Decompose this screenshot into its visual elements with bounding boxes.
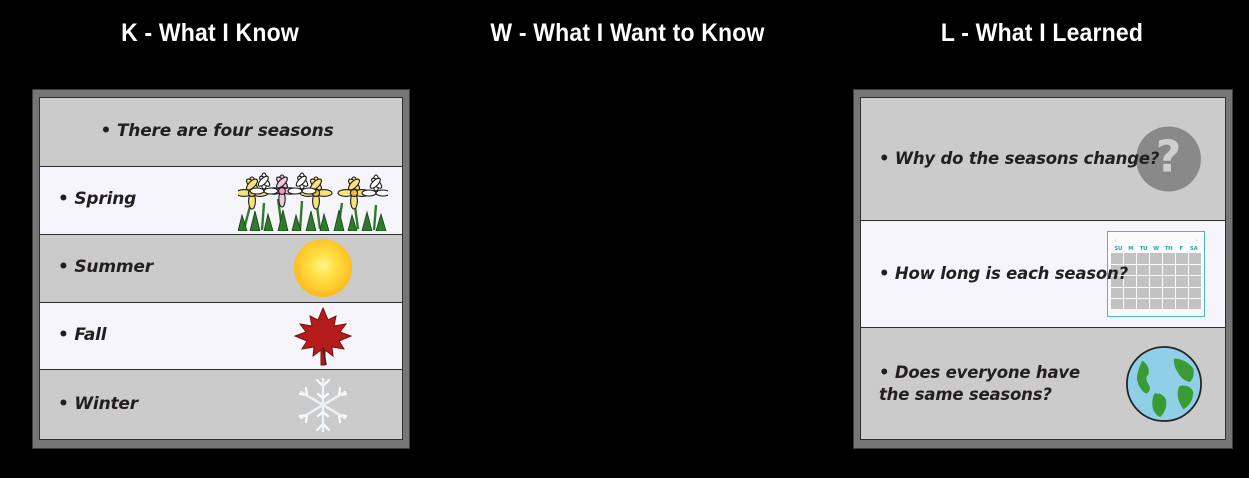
calendar-cell: [1189, 276, 1201, 286]
calendar-day-label: SU: [1112, 247, 1125, 252]
row-text: • Fall: [40, 325, 114, 347]
calendar-day-label: TU: [1137, 247, 1150, 252]
column-want: W - What I Want to Know • Why do the sea…: [420, 0, 835, 478]
calendar-cell: [1150, 288, 1162, 298]
calendar-day-label: TH: [1162, 247, 1175, 252]
snowflake-icon: [292, 374, 354, 436]
calendar-cell: [1189, 288, 1201, 298]
table-row[interactable]: • Winter: [40, 370, 402, 439]
row-text: • Does everyone have the same seasons?: [861, 362, 1107, 404]
sun-icon: [294, 239, 352, 297]
flowers-icon: [238, 169, 388, 231]
column-title-know: K - What I Know: [17, 19, 403, 48]
row-text: • Spring: [40, 189, 144, 211]
calendar-day-label: SA: [1187, 247, 1200, 252]
calendar-cell: [1176, 276, 1188, 286]
calendar-cell: [1189, 253, 1201, 263]
calendar-next-arrow[interactable]: ›: [1195, 237, 1198, 245]
table-row[interactable]: • Summer: [40, 235, 402, 303]
row-text: • Why do the seasons change?: [861, 148, 1167, 169]
calendar-cell: [1163, 299, 1175, 309]
calendar-cell: [1189, 265, 1201, 275]
table-know: • There are four seasons • Spring: [32, 89, 410, 449]
column-title-learned: L - What I Learned: [852, 19, 1233, 48]
calendar-cell: [1150, 276, 1162, 286]
calendar-cell: [1176, 288, 1188, 298]
calendar-cell: [1163, 253, 1175, 263]
calendar-day-label: M: [1125, 247, 1138, 252]
calendar-cell: [1111, 299, 1123, 309]
calendar-cell: [1150, 265, 1162, 275]
table-row[interactable]: • There are four seasons: [40, 98, 402, 167]
calendar-cell: [1176, 265, 1188, 275]
calendar-cell: [1124, 299, 1136, 309]
calendar-cell: [1137, 288, 1149, 298]
row-text: • Winter: [40, 394, 146, 416]
calendar-cell: [1137, 276, 1149, 286]
calendar-cell: [1176, 299, 1188, 309]
calendar-cell: [1163, 265, 1175, 275]
calendar-cell: [1111, 253, 1123, 263]
calendar-cell: [1137, 299, 1149, 309]
row-text: • How long is each season?: [861, 263, 1136, 284]
calendar-cell: [1150, 299, 1162, 309]
calendar-cell: [1124, 253, 1136, 263]
maple-leaf-icon: [292, 305, 354, 367]
calendar-cell: [1124, 288, 1136, 298]
calendar-cell: [1150, 253, 1162, 263]
calendar-day-label: F: [1175, 247, 1188, 252]
globe-icon: [1125, 345, 1203, 423]
calendar-cell: [1137, 265, 1149, 275]
kwl-chart-board: K - What I Know • There are four seasons…: [0, 0, 1249, 478]
row-text: • There are four seasons: [40, 121, 402, 143]
column-know: K - What I Know • There are four seasons…: [0, 0, 420, 478]
row-text: • Summer: [40, 257, 161, 279]
calendar-cell: [1163, 288, 1175, 298]
calendar-cell: [1176, 253, 1188, 263]
calendar-cell: [1137, 253, 1149, 263]
table-row[interactable]: • Fall: [40, 303, 402, 371]
calendar-cell: [1163, 276, 1175, 286]
calendar-prev-arrow[interactable]: ‹: [1114, 237, 1117, 245]
column-title-want: W - What I Want to Know: [437, 19, 819, 48]
calendar-cell: [1189, 299, 1201, 309]
calendar-day-label: W: [1150, 247, 1163, 252]
calendar-cell: [1111, 288, 1123, 298]
table-row[interactable]: • Spring: [40, 167, 402, 235]
